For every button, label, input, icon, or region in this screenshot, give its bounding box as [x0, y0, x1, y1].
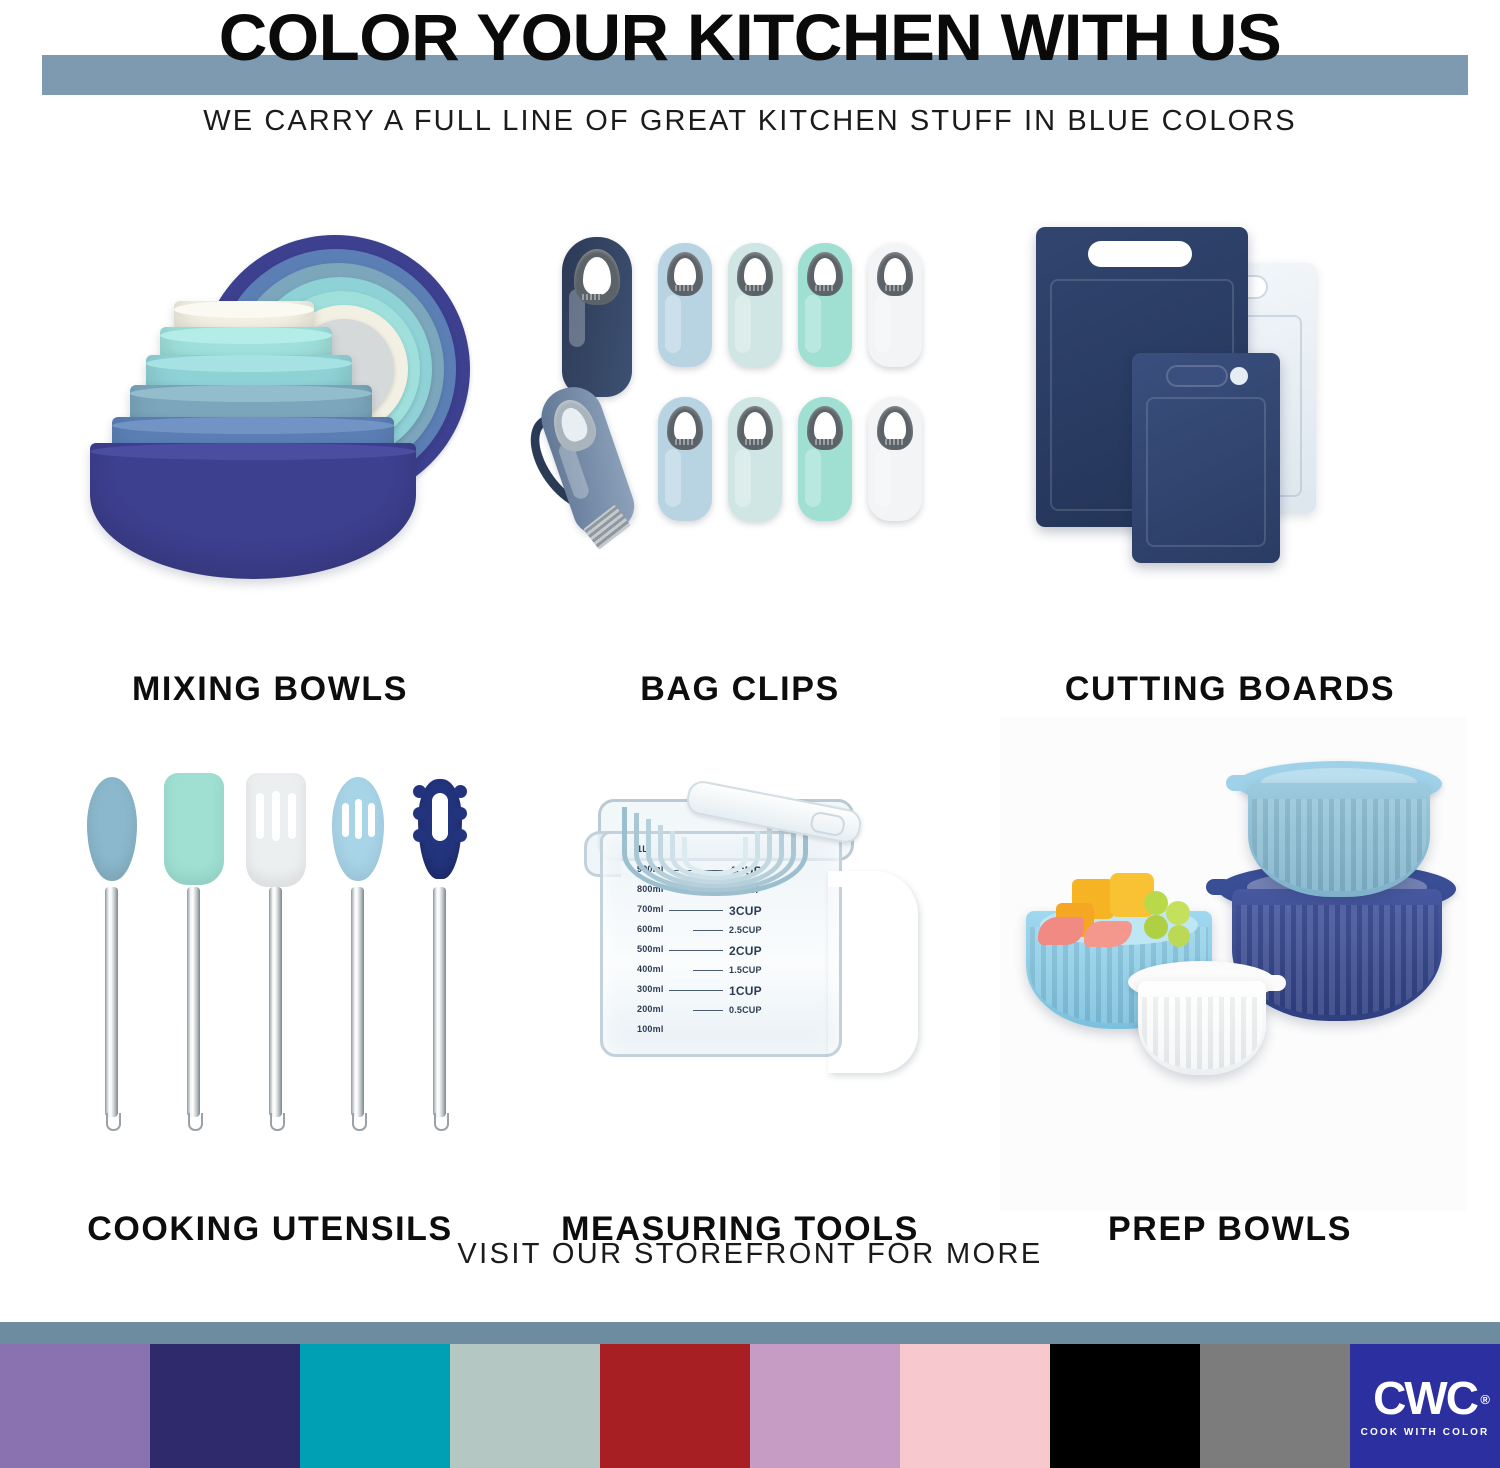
fruit-grapefruit-1	[1038, 917, 1084, 945]
bag-clip-mint-2	[798, 397, 852, 521]
product-cell-mixing-bowls[interactable]: MIXING BOWLS	[40, 215, 500, 715]
prep-bowl-white	[1128, 961, 1276, 1081]
swatch-gray	[1200, 1344, 1350, 1468]
mark-cup-7: 0.5CUP	[729, 1005, 762, 1015]
footer-accent-bar	[0, 1322, 1500, 1344]
swatch-mauve	[750, 1344, 900, 1468]
bag-clip-palemint-1	[728, 243, 782, 367]
mark-metric-5: 500ml	[637, 944, 664, 954]
cooking-utensils-image	[40, 735, 500, 1197]
mark-cup-4: 2CUP	[729, 944, 762, 958]
product-cell-prep-bowls[interactable]: PREP BOWLS	[1000, 735, 1460, 1255]
bag-clips-image	[510, 215, 970, 657]
measuring-cup-handle	[828, 871, 918, 1073]
product-label-cutting-boards: CUTTING BOARDS	[1000, 669, 1460, 715]
product-label-bag-clips: BAG CLIPS	[510, 669, 970, 715]
swatch-navy	[150, 1344, 300, 1468]
mark-cup-5: 1.5CUP	[729, 965, 762, 975]
prep-bowls-image	[1000, 735, 1460, 1197]
fruit-grape-2	[1166, 901, 1190, 925]
mark-cup-3: 2.5CUP	[729, 925, 762, 935]
product-cell-measuring-tools[interactable]: 1L 900ml 800ml 700ml 600ml 500ml 400ml 3…	[510, 735, 970, 1255]
registered-trademark-icon: ®	[1480, 1377, 1490, 1423]
bag-clip-white-1	[868, 243, 922, 367]
fruit-grape-3	[1144, 915, 1168, 939]
swatch-sage	[450, 1344, 600, 1468]
cutting-boards-image	[1000, 215, 1460, 657]
product-label-mixing-bowls: MIXING BOWLS	[40, 669, 500, 715]
mark-metric-4: 600ml	[637, 924, 664, 934]
storefront-cta[interactable]: VISIT OUR STOREFRONT FOR MORE	[0, 1238, 1500, 1271]
product-grid: MIXING BOWLS	[0, 175, 1500, 1280]
fruit-grape-1	[1144, 891, 1168, 915]
bag-clip-lightblue-2	[658, 397, 712, 521]
product-cell-bag-clips[interactable]: BAG CLIPS	[510, 215, 970, 715]
swatch-purple	[0, 1344, 150, 1468]
swatch-brand-blue: CWC® COOK WITH COLOR	[1350, 1344, 1500, 1468]
mark-metric-7: 300ml	[637, 984, 664, 994]
bag-clip-navy	[562, 237, 632, 397]
page-subtitle: WE CARRY A FULL LINE OF GREAT KITCHEN ST…	[0, 104, 1500, 138]
color-swatch-strip: CWC® COOK WITH COLOR	[0, 1344, 1500, 1468]
swatch-teal	[300, 1344, 450, 1468]
brand-logo[interactable]: CWC® COOK WITH COLOR	[1350, 1344, 1500, 1468]
bag-clip-angled	[533, 379, 640, 541]
mark-cup-6: 1CUP	[729, 984, 762, 998]
swatch-pink	[900, 1344, 1050, 1468]
fruit-grape-4	[1168, 925, 1190, 947]
page-header: COLOR YOUR KITCHEN WITH US WE CARRY A FU…	[0, 0, 1500, 160]
mixing-bowls-image	[40, 215, 500, 657]
bag-clip-white-2	[868, 397, 922, 521]
bag-clip-palemint-2	[728, 397, 782, 521]
measuring-tools-image: 1L 900ml 800ml 700ml 600ml 500ml 400ml 3…	[510, 735, 970, 1197]
mark-metric-6: 400ml	[637, 964, 664, 974]
cutting-board-navy-medium	[1132, 353, 1280, 563]
swatch-black	[1050, 1344, 1200, 1468]
mark-metric-8: 200ml	[637, 1004, 664, 1014]
swatch-red	[600, 1344, 750, 1468]
prep-bowl-lightblue	[1236, 761, 1442, 901]
bag-clip-lightblue-1	[658, 243, 712, 367]
mark-metric-9: 100ml	[637, 1024, 664, 1034]
bag-clip-mint-1	[798, 243, 852, 367]
product-cell-cutting-boards[interactable]: CUTTING BOARDS	[1000, 215, 1460, 715]
logo-mark: CWC	[1373, 1372, 1477, 1424]
page-title: COLOR YOUR KITCHEN WITH US	[0, 0, 1500, 70]
logo-tagline: COOK WITH COLOR	[1361, 1427, 1490, 1438]
product-cell-cooking-utensils[interactable]: COOKING UTENSILS	[40, 735, 500, 1255]
